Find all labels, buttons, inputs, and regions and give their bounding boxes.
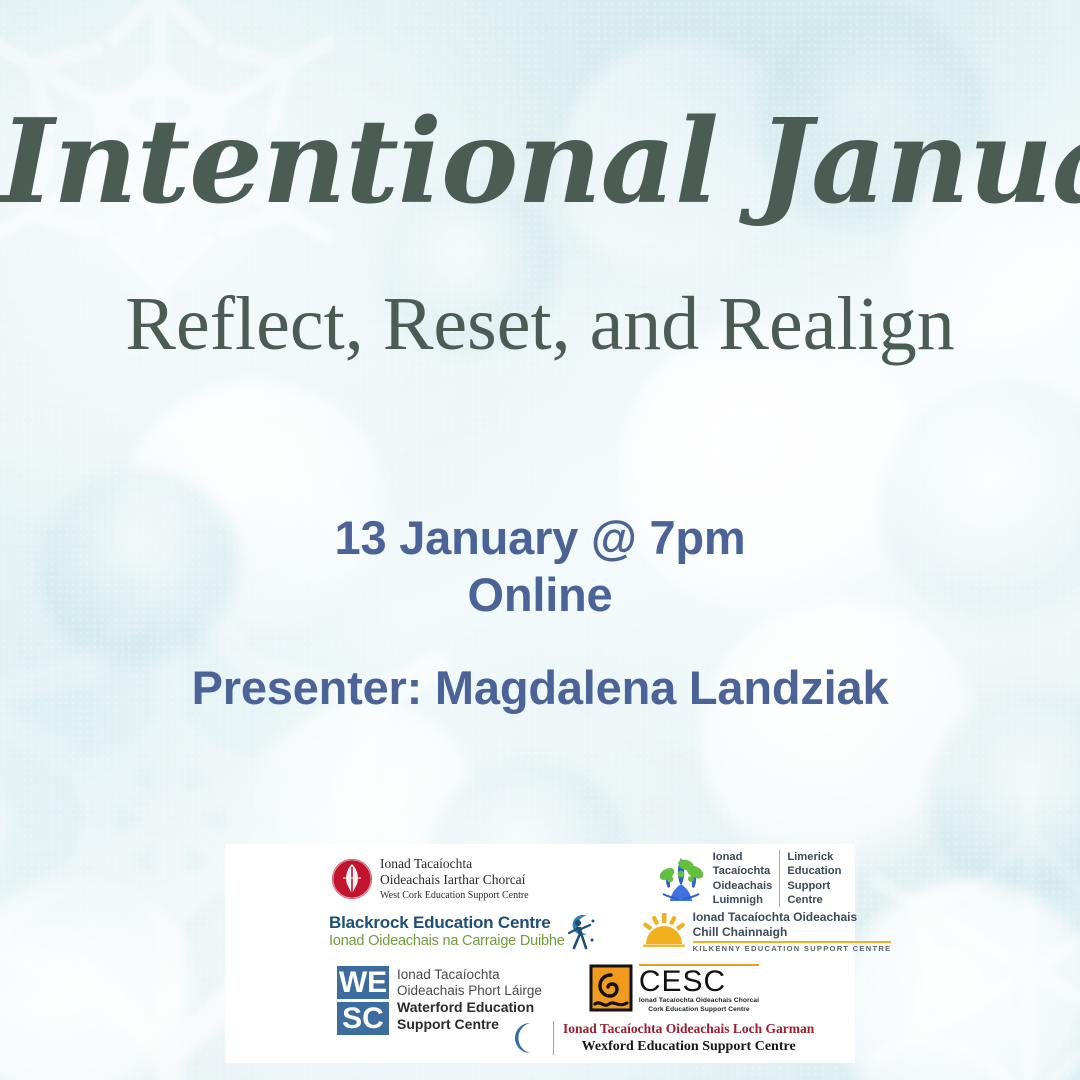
- logo-west-cork-line3: West Cork Education Support Centre: [380, 889, 529, 902]
- logo-kilkenny: Ionad Tacaíochta Oideachais Chill Chainn…: [641, 910, 892, 953]
- event-date-line: 13 January @ 7pm: [0, 509, 1080, 566]
- event-datetime-block: 13 January @ 7pm Online: [0, 509, 1080, 624]
- logo-kilkenny-line3: KILKENNY EDUCATION SUPPORT CENTRE: [693, 944, 892, 953]
- logo-waterford-line3: Waterford Education: [397, 999, 542, 1016]
- logo-west-cork-text: Ionad Tacaíochta Oideachais Iarthar Chor…: [380, 856, 529, 902]
- logo-row-2: Blackrock Education Centre Ionad Oideach…: [329, 910, 891, 953]
- logo-wexford-line2: Wexford Education Support Centre: [563, 1038, 814, 1055]
- logo-limerick: Ionad Tacaíochta Oideachais Luimnigh Lim…: [655, 850, 842, 907]
- logo-blackrock-line1: Blackrock Education Centre: [329, 914, 565, 933]
- poster-subtitle: Reflect, Reset, and Realign: [0, 283, 1080, 367]
- logo-cork-line2: Cork Education Support Centre: [639, 1006, 759, 1015]
- sunrise-icon: [641, 913, 687, 947]
- logo-limerick-en-3: Support: [787, 879, 841, 893]
- logo-blackrock-text: Blackrock Education Centre Ionad Oideach…: [329, 914, 565, 949]
- logo-limerick-ga-1: Ionad: [713, 850, 773, 864]
- logo-row-1: Ionad Tacaíochta Oideachais Iarthar Chor…: [331, 850, 841, 907]
- svg-text:WE: WE: [339, 966, 387, 999]
- logo-limerick-ga-3: Oideachais: [713, 879, 773, 893]
- wesc-monogram-icon: WE SC: [335, 964, 391, 1038]
- logo-limerick-text: Ionad Tacaíochta Oideachais Luimnigh Lim…: [713, 850, 842, 907]
- logo-limerick-ga-4: Luimnigh: [713, 893, 773, 907]
- logo-cork-text: CESC Ionad Tacaíochta Oideachais Chorcaí…: [639, 964, 759, 1014]
- logo-waterford-line1: Ionad Tacaíochta: [397, 967, 542, 983]
- logo-limerick-ga-2: Tacaíochta: [713, 864, 773, 878]
- poster-title: Intentional January:: [0, 102, 1080, 224]
- logo-wexford-line1: Ionad Tacaíochta Oideachais Loch Garman: [563, 1021, 814, 1037]
- logo-blackrock: Blackrock Education Centre Ionad Oideach…: [329, 912, 597, 952]
- blue-crescent-moon-icon: [507, 1019, 545, 1057]
- logo-row-4: Ionad Tacaíochta Oideachais Loch Garman …: [507, 1019, 814, 1057]
- blue-green-figures-icon: [655, 854, 707, 904]
- poster-canvas: Intentional January: Reflect, Reset, and…: [0, 0, 1080, 1080]
- svg-text:SC: SC: [342, 1002, 384, 1035]
- logo-west-cork-line1: Ionad Tacaíochta: [380, 856, 529, 872]
- presenter-line: Presenter: Magdalena Landziak: [0, 660, 1080, 715]
- logo-cork-acronym: CESC: [639, 967, 759, 997]
- logo-limerick-en-4: Centre: [787, 893, 841, 907]
- logo-cork: CESC Ionad Tacaíochta Oideachais Chorcaí…: [588, 964, 759, 1016]
- logo-west-cork: Ionad Tacaíochta Oideachais Iarthar Chor…: [331, 856, 529, 902]
- event-location-line: Online: [0, 566, 1080, 623]
- logo-kilkenny-line2: Chill Chainnaigh: [693, 925, 892, 940]
- logo-kilkenny-line1: Ionad Tacaíochta Oideachais: [693, 910, 892, 925]
- orange-spiral-icon: [588, 964, 634, 1016]
- logo-blackrock-line2: Ionad Oideachais na Carraige Duibhe: [329, 933, 565, 950]
- blackrock-runner-icon: [561, 912, 597, 952]
- sponsor-logo-panel: Ionad Tacaíochta Oideachais Iarthar Chor…: [225, 844, 855, 1063]
- logo-wexford-text: Ionad Tacaíochta Oideachais Loch Garman …: [553, 1021, 814, 1055]
- red-circle-figure-icon: [331, 858, 373, 900]
- logo-limerick-col-english: Limerick Education Support Centre: [779, 850, 841, 907]
- logo-waterford-line2: Oideachais Phort Láirge: [397, 983, 542, 999]
- logo-limerick-en-2: Education: [787, 864, 841, 878]
- logo-kilkenny-text: Ionad Tacaíochta Oideachais Chill Chainn…: [693, 910, 892, 953]
- logo-limerick-en-1: Limerick: [787, 850, 841, 864]
- logo-west-cork-line2: Oideachais Iarthar Chorcaí: [380, 872, 529, 888]
- logo-wexford: Ionad Tacaíochta Oideachais Loch Garman …: [507, 1019, 814, 1057]
- logo-kilkenny-rule: [693, 941, 892, 943]
- logo-limerick-col-irish: Ionad Tacaíochta Oideachais Luimnigh: [713, 850, 773, 907]
- logo-cork-line1: Ionad Tacaíochta Oideachais Chorcaí: [639, 997, 759, 1006]
